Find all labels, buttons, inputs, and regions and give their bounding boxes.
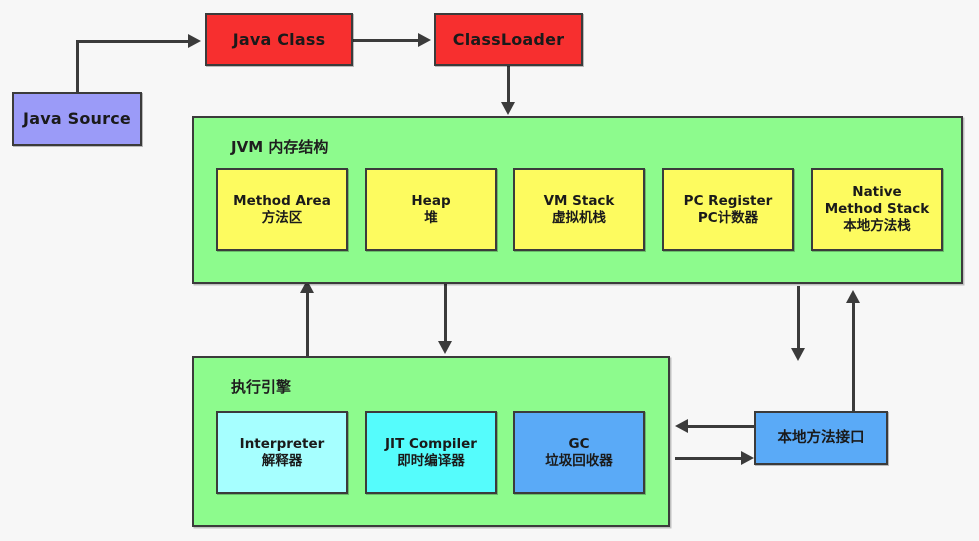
connector-source-up [76,40,79,94]
connector-engine-to-memory [306,290,309,356]
classloader-label: ClassLoader [453,30,564,50]
native-method-interface-box[interactable]: 本地方法接口 [754,411,888,465]
engine-cell-cn: 即时编译器 [397,453,465,470]
memory-cell-native-method-stack[interactable]: Native Method Stack 本地方法栈 [811,168,943,251]
memory-cell-heap[interactable]: Heap 堆 [365,168,497,251]
memory-cell-en: PC Register [684,193,773,210]
memory-cell-cn: 虚拟机栈 [552,210,606,227]
arrowhead-native-to-engine [675,419,688,433]
memory-cell-vm-stack[interactable]: VM Stack 虚拟机栈 [513,168,645,251]
engine-cell-en: Interpreter [240,436,325,453]
memory-cell-en: Method Area [233,193,331,210]
memory-cell-en-line1: Native [852,184,901,201]
native-method-interface-label: 本地方法接口 [778,429,865,447]
arrowhead-memory-to-native [791,348,805,361]
memory-cell-en-line2: Method Stack [825,201,930,218]
memory-cell-pc-register[interactable]: PC Register PC计数器 [662,168,794,251]
connector-source-right [76,40,188,43]
memory-cell-cn: 堆 [424,210,438,227]
engine-cell-cn: 解释器 [262,453,303,470]
connector-engine-to-native [675,457,741,460]
arrowhead-to-java-class [188,34,201,48]
connector-native-to-engine [688,425,754,428]
connector-memory-to-engine [444,284,447,343]
java-source-label: Java Source [23,109,131,129]
java-class-box[interactable]: Java Class [205,13,353,66]
jvm-architecture-diagram: Java Source Java Class ClassLoader JVM 内… [0,0,979,541]
engine-cell-interpreter[interactable]: Interpreter 解释器 [216,411,348,494]
execution-engine-label: 执行引擎 [231,376,291,397]
arrowhead-engine-to-native [741,451,754,465]
memory-cell-en: VM Stack [544,193,615,210]
arrowhead-to-memory [501,102,515,115]
arrowhead-memory-to-engine [438,341,452,354]
java-source-box[interactable]: Java Source [12,92,142,146]
memory-cell-en: Heap [411,193,450,210]
connector-loader-to-memory [507,66,510,104]
arrowhead-to-classloader [418,33,431,47]
jvm-memory-label: JVM 内存结构 [231,136,328,157]
engine-cell-gc[interactable]: GC 垃圾回收器 [513,411,645,494]
classloader-box[interactable]: ClassLoader [434,13,583,66]
engine-cell-jit-compiler[interactable]: JIT Compiler 即时编译器 [365,411,497,494]
memory-cell-cn: 方法区 [262,210,303,227]
connector-native-to-memory [852,300,855,411]
memory-cell-method-area[interactable]: Method Area 方法区 [216,168,348,251]
engine-cell-en: JIT Compiler [385,436,477,453]
engine-cell-en: GC [569,436,590,453]
memory-cell-cn: PC计数器 [698,210,758,227]
java-class-label: Java Class [233,30,326,50]
connector-memory-to-native [797,286,800,350]
engine-cell-cn: 垃圾回收器 [545,453,613,470]
connector-class-to-loader [352,39,418,42]
memory-cell-cn: 本地方法栈 [843,218,911,235]
arrowhead-native-to-memory [846,290,860,303]
